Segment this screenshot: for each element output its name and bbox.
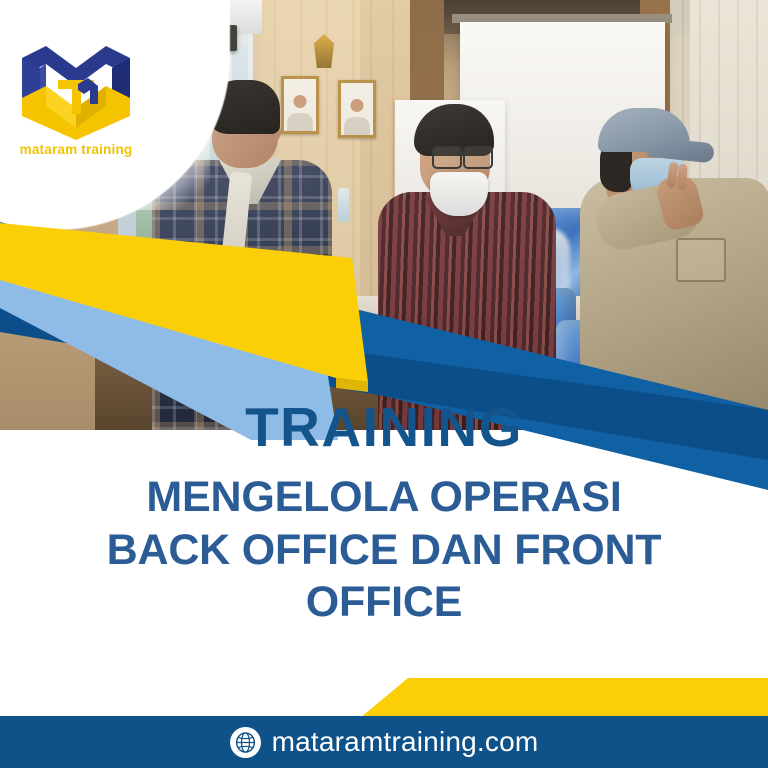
- portrait-body: [287, 113, 313, 131]
- portrait-body: [344, 117, 370, 135]
- portrait-face: [294, 95, 307, 108]
- person-right-jacket-pocket: [676, 238, 726, 282]
- logo-caption: mataram training: [14, 142, 138, 157]
- footer-bar: mataramtraining.com: [0, 716, 768, 768]
- subtitle-line-1: MENGELOLA OPERASI: [28, 471, 740, 523]
- title-training: TRAINING: [0, 398, 768, 457]
- subtitle-line-3: OFFICE: [28, 576, 740, 628]
- globe-icon: [230, 727, 261, 758]
- title-subtitle: MENGELOLA OPERASI BACK OFFICE DAN FRONT …: [0, 471, 768, 628]
- framed-portrait-2: [338, 80, 376, 138]
- globe-icon-glyph: [234, 731, 257, 754]
- framed-portrait-1: [281, 76, 319, 134]
- portrait-face: [351, 99, 364, 112]
- poster-canvas: mataram training TRAINING MENGELOLA OPER…: [0, 0, 768, 768]
- person-center-face-mask: [430, 172, 488, 216]
- mataram-m-monogram-icon: [18, 42, 134, 140]
- person-center-eyeglasses-bridge: [457, 152, 465, 155]
- footer-yellow-wedge: [360, 678, 768, 718]
- water-bottle: [338, 188, 349, 222]
- person-right-finger: [678, 164, 688, 190]
- brand-logo[interactable]: mataram training: [14, 42, 138, 172]
- footer-website-url[interactable]: mataramtraining.com: [272, 726, 539, 758]
- person-center-eyeglasses-left: [432, 146, 462, 169]
- subtitle-line-2: BACK OFFICE DAN FRONT: [28, 524, 740, 576]
- title-block: TRAINING MENGELOLA OPERASI BACK OFFICE D…: [0, 398, 768, 629]
- person-center-eyeglasses-right: [463, 146, 493, 169]
